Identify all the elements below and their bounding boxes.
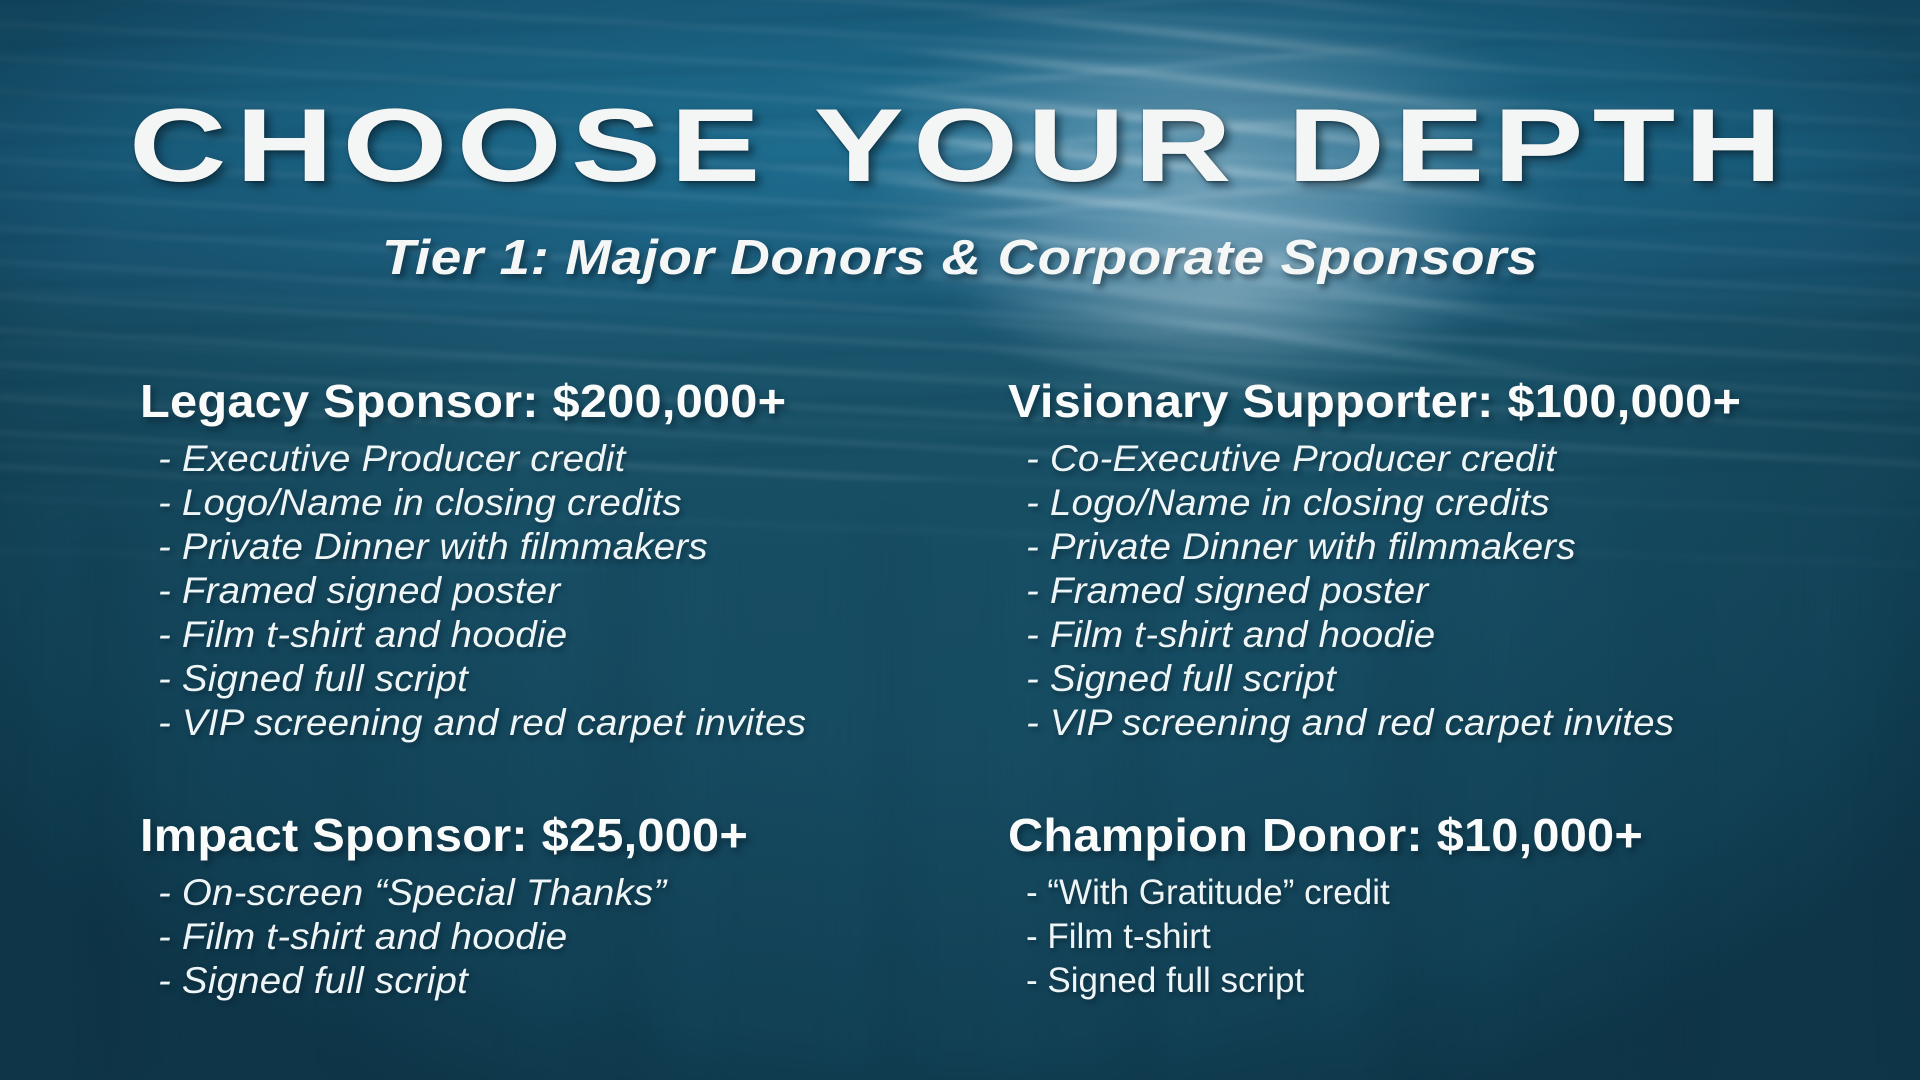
tier-block-legacy-sponsor: Legacy Sponsor: $200,000+ - Executive Pr… [140, 378, 781, 745]
tier-heading: Legacy Sponsor: $200,000+ [140, 378, 820, 424]
benefit-item: - Signed full script [1026, 657, 1727, 701]
benefit-item: - Logo/Name in closing credits [1026, 481, 1727, 525]
tier-block-impact-sponsor: Impact Sponsor: $25,000+ - On-screen “Sp… [140, 812, 714, 1003]
tier-benefit-list: - “With Gratitude” credit - Film t-shirt… [1008, 871, 1607, 1003]
benefit-item: - Framed signed poster [158, 569, 806, 613]
benefit-item: - “With Gratitude” credit [1026, 871, 1607, 915]
benefit-item: - Executive Producer credit [158, 437, 806, 481]
benefit-item: - Signed full script [158, 657, 806, 701]
benefit-item: - Film t-shirt and hoodie [158, 613, 806, 657]
slide-content: CHOOSE YOUR DEPTH Tier 1: Major Donors &… [0, 0, 1920, 1080]
tier-block-champion-donor: Champion Donor: $10,000+ - “With Gratitu… [1008, 812, 1607, 1003]
benefit-item: - Film t-shirt and hoodie [1026, 613, 1727, 657]
tier-heading: Visionary Supporter: $100,000+ [1008, 378, 1741, 424]
tier-heading: Champion Donor: $10,000+ [1008, 812, 1643, 858]
benefit-item: - Signed full script [158, 959, 736, 1003]
benefit-item: - Signed full script [1026, 959, 1607, 1003]
slide-title: CHOOSE YOUR DEPTH [0, 94, 1920, 198]
slide-subtitle: Tier 1: Major Donors & Corporate Sponsor… [0, 234, 1920, 283]
tier-benefit-list: - Co-Executive Producer credit - Logo/Na… [1008, 437, 1700, 745]
benefit-item: - Film t-shirt and hoodie [158, 915, 736, 959]
benefit-item: - VIP screening and red carpet invites [158, 701, 806, 745]
benefit-item: - Logo/Name in closing credits [158, 481, 806, 525]
benefit-item: - Framed signed poster [1026, 569, 1727, 613]
benefit-item: - Co-Executive Producer credit [1026, 437, 1727, 481]
presentation-slide: CHOOSE YOUR DEPTH Tier 1: Major Donors &… [0, 0, 1920, 1080]
tier-block-visionary-supporter: Visionary Supporter: $100,000+ - Co-Exec… [1008, 378, 1700, 745]
benefit-item: - Private Dinner with filmmakers [1026, 525, 1727, 569]
benefit-item: - VIP screening and red carpet invites [1026, 701, 1727, 745]
benefit-item: - Film t-shirt [1026, 915, 1607, 959]
tier-heading: Impact Sponsor: $25,000+ [140, 812, 748, 858]
tier-benefit-list: - Executive Producer credit - Logo/Name … [140, 437, 781, 745]
tier-benefit-list: - On-screen “Special Thanks” - Film t-sh… [140, 871, 714, 1003]
benefit-item: - Private Dinner with filmmakers [158, 525, 806, 569]
benefit-item: - On-screen “Special Thanks” [158, 871, 736, 915]
